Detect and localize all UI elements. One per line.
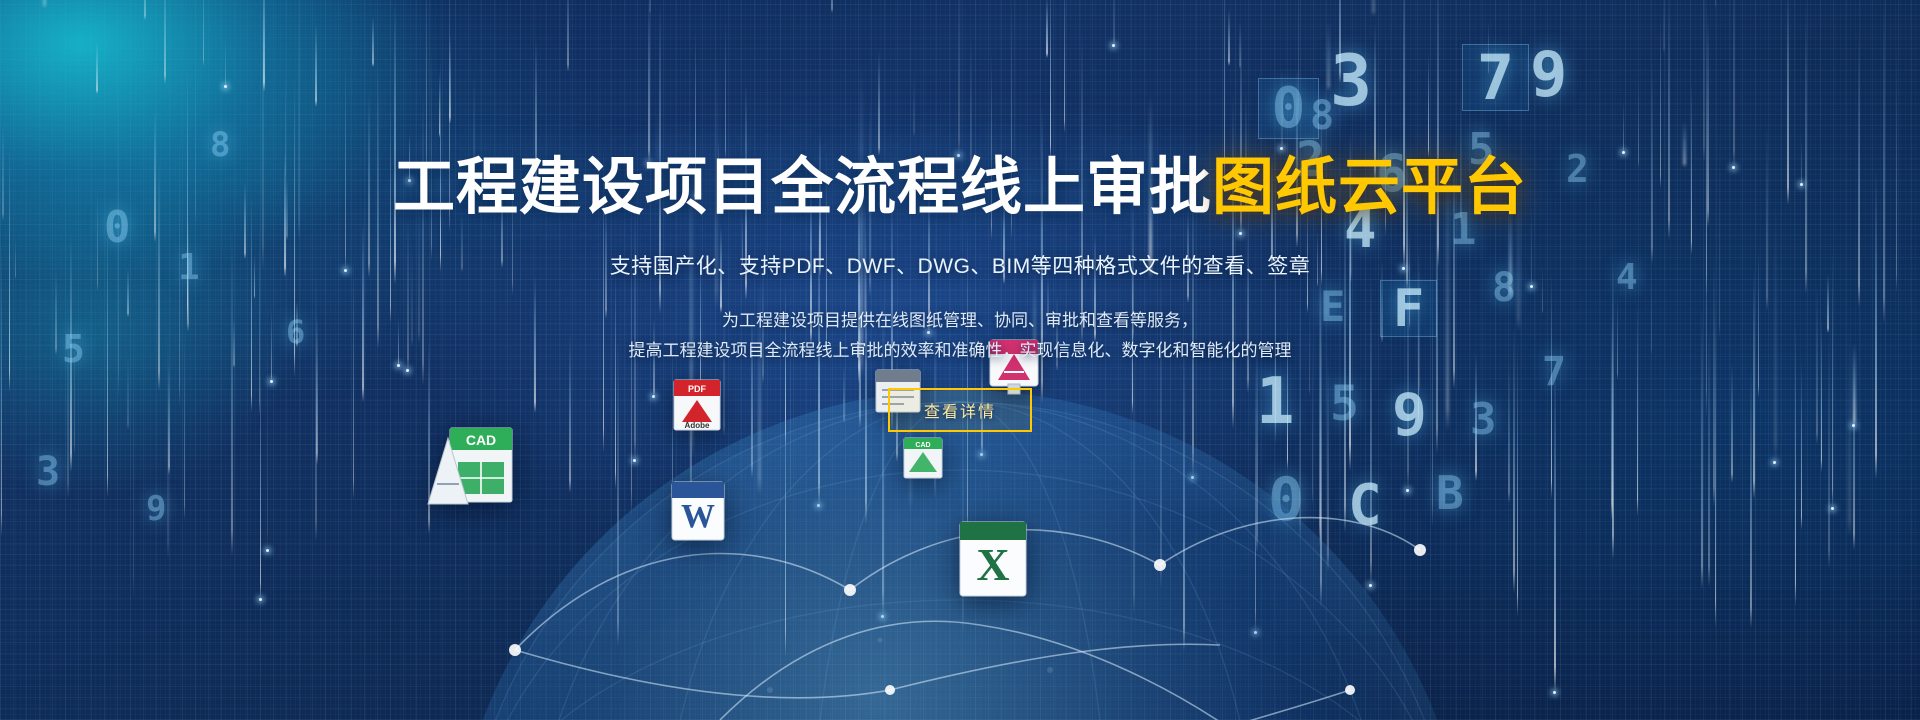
svg-text:CAD: CAD — [466, 432, 496, 448]
cad-file-icon[interactable]: CAD — [424, 420, 520, 510]
svg-text:CAD: CAD — [915, 442, 930, 449]
svg-text:W: W — [681, 498, 715, 535]
word-file-icon[interactable]: W — [664, 478, 734, 546]
background-digit: 9 — [146, 492, 166, 526]
description-line-1: 为工程建设项目提供在线图纸管理、协同、审批和查看等服务， — [722, 311, 1198, 330]
dwg-file-icon[interactable]: CAD — [898, 434, 948, 482]
hero-subtitle: 支持国产化、支持PDF、DWF、DWG、BIM等四种格式文件的查看、签章 — [0, 250, 1920, 280]
hero-content: 工程建设项目全流程线上审批图纸云平台 支持国产化、支持PDF、DWF、DWG、B… — [0, 0, 1920, 432]
svg-text:X: X — [976, 539, 1009, 590]
hero-description: 为工程建设项目提供在线图纸管理、协同、审批和查看等服务， 提高工程建设项目全流程… — [0, 306, 1920, 366]
hero-banner: 3790826541FE815930CB7240158639 — [0, 0, 1920, 720]
cta-row: 查看详情 — [0, 388, 1920, 432]
description-line-2: 提高工程建设项目全流程线上审批的效率和准确性，实现信息化、数字化和智能化的管理 — [629, 341, 1292, 360]
page-title: 工程建设项目全流程线上审批图纸云平台 — [0, 0, 1920, 226]
view-details-button[interactable]: 查看详情 — [888, 388, 1032, 432]
excel-file-icon[interactable]: X — [950, 518, 1040, 604]
background-digit: 3 — [36, 452, 60, 492]
title-white-part: 工程建设项目全流程线上审批 — [393, 153, 1212, 222]
title-accent-part: 图纸云平台 — [1212, 153, 1527, 222]
